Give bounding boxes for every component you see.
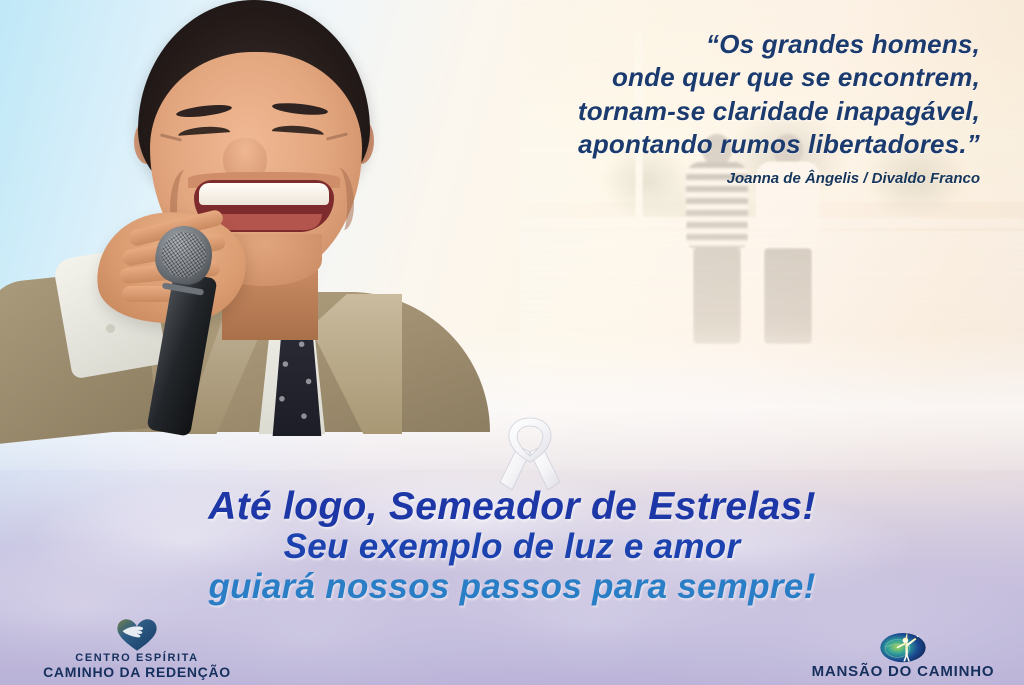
headline-line-2: Seu exemplo de luz e amor xyxy=(0,527,1024,566)
headline-line-3: guiará nossos passos para sempre! xyxy=(0,567,1024,606)
quote-attribution: Joanna de Ângelis / Divaldo Franco xyxy=(380,170,980,187)
scene-figure-white-shirt xyxy=(757,134,819,344)
memorial-poster: “Os grandes homens, onde quer que se enc… xyxy=(0,0,1024,685)
logo-left-line-1: CENTRO ESPÍRITA xyxy=(12,652,262,665)
quote-line-4: apontando rumos libertadores.” xyxy=(380,128,980,161)
quote-text: “Os grandes homens, onde quer que se enc… xyxy=(380,28,980,161)
scene-figure-striped-shirt xyxy=(686,134,748,344)
white-awareness-ribbon-icon xyxy=(494,412,566,492)
quote-line-3: tornam-se claridade inapagável, xyxy=(380,95,980,128)
microphone-grille xyxy=(158,229,209,282)
quote-line-1: “Os grandes homens, xyxy=(380,28,980,61)
logo-centro-espirita-caminho-da-redencao: CENTRO ESPÍRITA CAMINHO DA REDENÇÃO xyxy=(12,618,262,681)
portrait-cuff-button xyxy=(106,324,115,333)
headline-message: Até logo, Semeador de Estrelas! Seu exem… xyxy=(0,486,1024,606)
logo-mansao-do-caminho: MANSÃO DO CAMINHO xyxy=(788,629,1018,681)
logo-right-line-1: MANSÃO DO CAMINHO xyxy=(788,663,1018,681)
globe-with-figure-icon xyxy=(788,629,1018,663)
quote-line-2: onde quer que se encontrem, xyxy=(380,61,980,94)
portrait-teeth xyxy=(199,183,329,205)
heart-with-hands-icon xyxy=(12,618,262,652)
logo-left-line-2: CAMINHO DA REDENÇÃO xyxy=(12,664,262,681)
headline-line-1: Até logo, Semeador de Estrelas! xyxy=(0,486,1024,527)
